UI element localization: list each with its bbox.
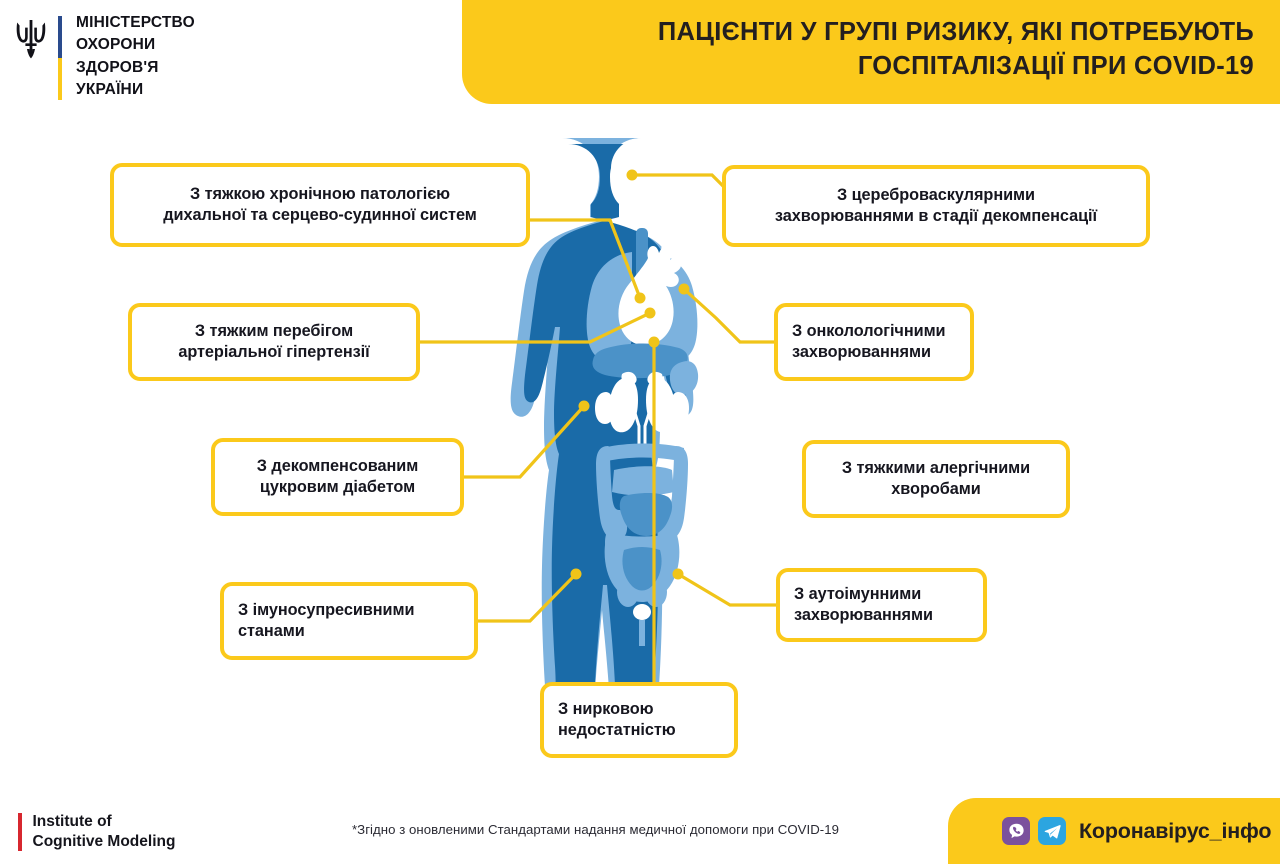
- header-banner: ПАЦІЄНТИ У ГРУПІ РИЗИКУ, ЯКІ ПОТРЕБУЮТЬ …: [462, 0, 1280, 104]
- label-text: З онколологічними захворюваннями: [792, 321, 956, 364]
- spine-bone: [639, 620, 645, 646]
- label-oncological[interactable]: З онколологічними захворюваннями: [774, 303, 974, 381]
- label-text: З тяжкою хронічною патологією дихальної …: [128, 184, 512, 227]
- label-text: З тяжкими алергічними хворобами: [820, 458, 1052, 501]
- coronavirus-info-label: Коронавірус_інфо: [1079, 819, 1271, 844]
- label-severe-allergic[interactable]: З тяжкими алергічними хворобами: [802, 440, 1070, 518]
- label-respiratory-cardiovascular[interactable]: З тяжкою хронічною патологією дихальної …: [110, 163, 530, 247]
- label-autoimmune[interactable]: З аутоімунними захворюваннями: [776, 568, 987, 642]
- ministry-name: МІНІСТЕРСТВО ОХОРОНИ ЗДОРОВ'Я УКРАЇНИ: [76, 12, 195, 101]
- ministry-of-health-logo: МІНІСТЕРСТВО ОХОРОНИ ЗДОРОВ'Я УКРАЇНИ: [14, 12, 195, 101]
- institute-name: Institute of Cognitive Modeling: [33, 812, 176, 851]
- label-text: З тяжким перебігом артеріальної гіпертен…: [146, 321, 402, 364]
- label-immunosuppressive[interactable]: З імуносупресивними станами: [220, 582, 478, 660]
- coronavirus-info-badge[interactable]: Коронавірус_інфо: [948, 798, 1280, 864]
- label-cerebrovascular[interactable]: З цереброваскулярними захворюваннями в с…: [722, 165, 1150, 247]
- label-renal-failure[interactable]: З нирковою недостатністю: [540, 682, 738, 758]
- viber-icon[interactable]: [1002, 817, 1030, 845]
- brain-organ: [611, 138, 673, 202]
- telegram-icon[interactable]: [1038, 817, 1066, 845]
- label-text: З декомпенсованим цукровим діабетом: [229, 456, 446, 499]
- label-text: З аутоімунними захворюваннями: [794, 584, 969, 627]
- viber-glyph: [1007, 822, 1026, 841]
- label-text: З імуносупресивними станами: [238, 600, 460, 643]
- logo-divider: [58, 16, 62, 100]
- page-title: ПАЦІЄНТИ У ГРУПІ РИЗИКУ, ЯКІ ПОТРЕБУЮТЬ …: [492, 16, 1254, 84]
- label-decompensated-diabetes[interactable]: З декомпенсованим цукровим діабетом: [211, 438, 464, 516]
- telegram-glyph: [1043, 822, 1062, 841]
- institute-logo: Institute of Cognitive Modeling: [18, 812, 175, 851]
- label-text: З цереброваскулярними захворюваннями в с…: [740, 185, 1132, 228]
- footnote-text: *Згідно з оновленими Стандартами надання…: [352, 822, 839, 837]
- institute-accent-bar: [18, 813, 22, 851]
- label-text: З нирковою недостатністю: [558, 699, 720, 742]
- ukraine-trident-icon: [14, 16, 48, 60]
- label-arterial-hypertension[interactable]: З тяжким перебігом артеріальної гіпертен…: [128, 303, 420, 381]
